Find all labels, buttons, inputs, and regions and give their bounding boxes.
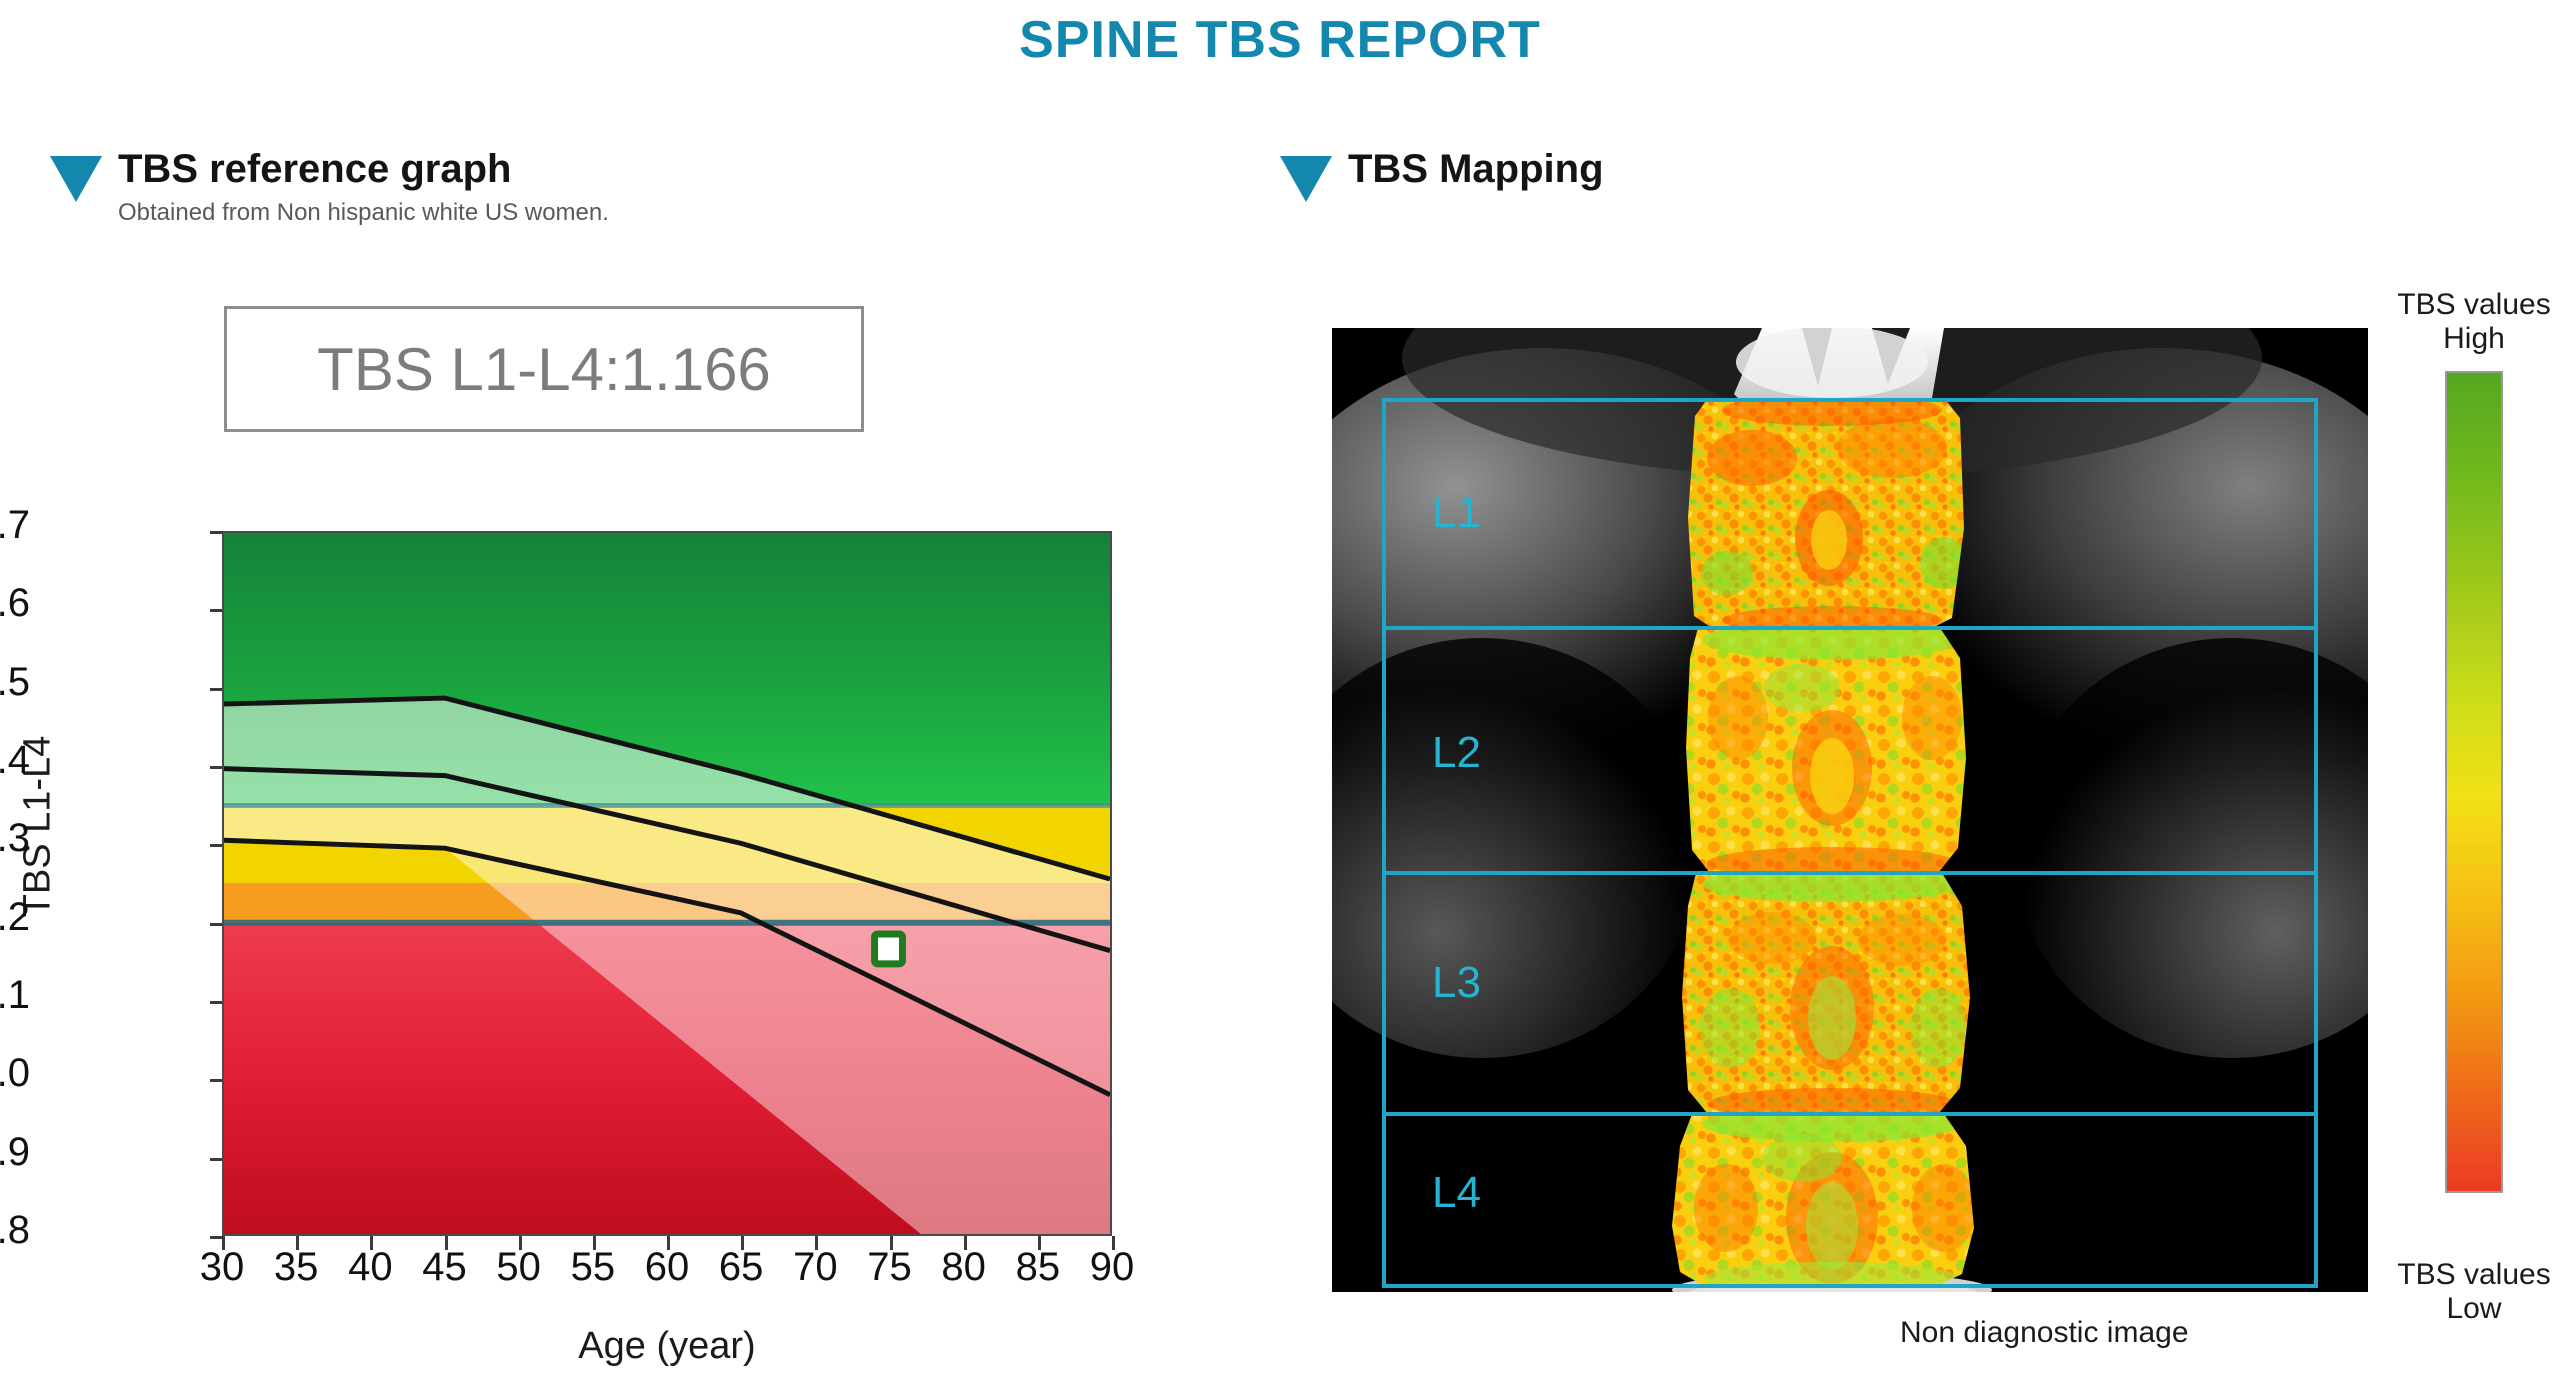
vertebra-label-l3: L3 [1432,958,1481,1008]
chart-y-tickmark [210,1079,222,1082]
legend-high-label-line2: High [2388,322,2560,356]
chart-x-tickmark [890,1236,893,1250]
dxa-svg [1332,328,2368,1292]
chart-x-tickmark [296,1236,299,1250]
reference-graph-heading: TBS reference graph [118,148,609,190]
tbs-color-legend: TBS values High [2388,288,2560,1193]
tbs-mapping-heading: TBS Mapping [1348,148,1604,190]
chart-y-tick-1.4: 1.4 [0,738,30,783]
chart-x-tickmark [222,1236,225,1250]
vertebra-heatmap-l1 [1688,394,1968,634]
chart-y-tickmark [210,1001,222,1004]
chart-y-tickmark [210,609,222,612]
vertebra-heatmap-l4 [1672,1106,1976,1292]
chart-y-tickmark [210,844,222,847]
section-header-tbs-mapping: TBS Mapping [1278,148,1604,208]
non-diagnostic-caption: Non diagnostic image [1900,1316,2189,1350]
legend-low-label-line2: Low [2388,1292,2560,1326]
spine-tbs-report-page: SPINE TBS REPORT TBS reference graph Obt… [0,0,2560,1397]
chart-x-tickmark [1038,1236,1041,1250]
chart-y-tick-1.0: 1.0 [0,1051,30,1096]
chart-y-tick-1.5: 1.5 [0,660,30,705]
chart-y-tick-0.9: 0.9 [0,1130,30,1175]
page-title: SPINE TBS REPORT [0,10,2560,70]
chart-x-tickmark [1112,1236,1115,1250]
chart-y-tickmark [210,766,222,769]
tbs-value-text: TBS L1-L4:1.166 [317,335,771,404]
chart-y-tick-1.7: 1.7 [0,503,30,548]
chart-x-tickmark [519,1236,522,1250]
vertebra-label-l4: L4 [1432,1168,1481,1218]
chart-y-tickmark [210,1158,222,1161]
tbs-reference-chart: TBS L1-L4 Age (year) 1.71.61.51.41.31.21… [0,505,1180,1395]
chart-x-tickmark [964,1236,967,1250]
chart-y-tick-1.6: 1.6 [0,581,30,626]
chart-y-tick-1.1: 1.1 [0,973,30,1018]
chart-y-tickmark [210,923,222,926]
chart-x-tickmark [445,1236,448,1250]
reference-graph-subheading: Obtained from Non hispanic white US wome… [118,199,609,227]
chart-x-tickmark [370,1236,373,1250]
vertebra-heatmap-l3 [1682,866,1970,1120]
chart-y-tick-1.2: 1.2 [0,895,30,940]
chart-y-tick-0.8: 0.8 [0,1208,30,1253]
chart-y-tickmark [210,1236,222,1239]
chart-x-tickmark [815,1236,818,1250]
vertebra-label-l2: L2 [1432,728,1481,778]
chart-y-tick-1.3: 1.3 [0,816,30,861]
vertebra-label-l1: L1 [1432,488,1481,538]
vertebra-heatmap-l2 [1686,620,1966,879]
tbs-color-legend-low: TBS values Low [2388,1258,2560,1325]
tbs-mapping-image: L1 L2 L3 L4 [1332,328,2368,1292]
triangle-marker-icon [48,152,104,208]
tbs-value-box: TBS L1-L4:1.166 [224,306,864,432]
chart-x-tickmark [741,1236,744,1250]
chart-y-tickmark [210,688,222,691]
chart-x-tick-90: 90 [1067,1245,1157,1290]
chart-x-tickmark [593,1236,596,1250]
chart-x-axis-label: Age (year) [222,1325,1112,1368]
section-header-reference-graph: TBS reference graph Obtained from Non hi… [48,148,609,227]
legend-high-label-line1: TBS values [2388,288,2560,322]
legend-low-label-line1: TBS values [2388,1258,2560,1292]
chart-plot-area [222,531,1112,1236]
chart-x-tickmark [667,1236,670,1250]
chart-y-tickmark [210,531,222,534]
legend-gradient-bar [2445,371,2503,1193]
triangle-marker-icon [1278,152,1334,208]
chart-svg [224,533,1110,1234]
patient-marker[interactable] [875,934,903,964]
